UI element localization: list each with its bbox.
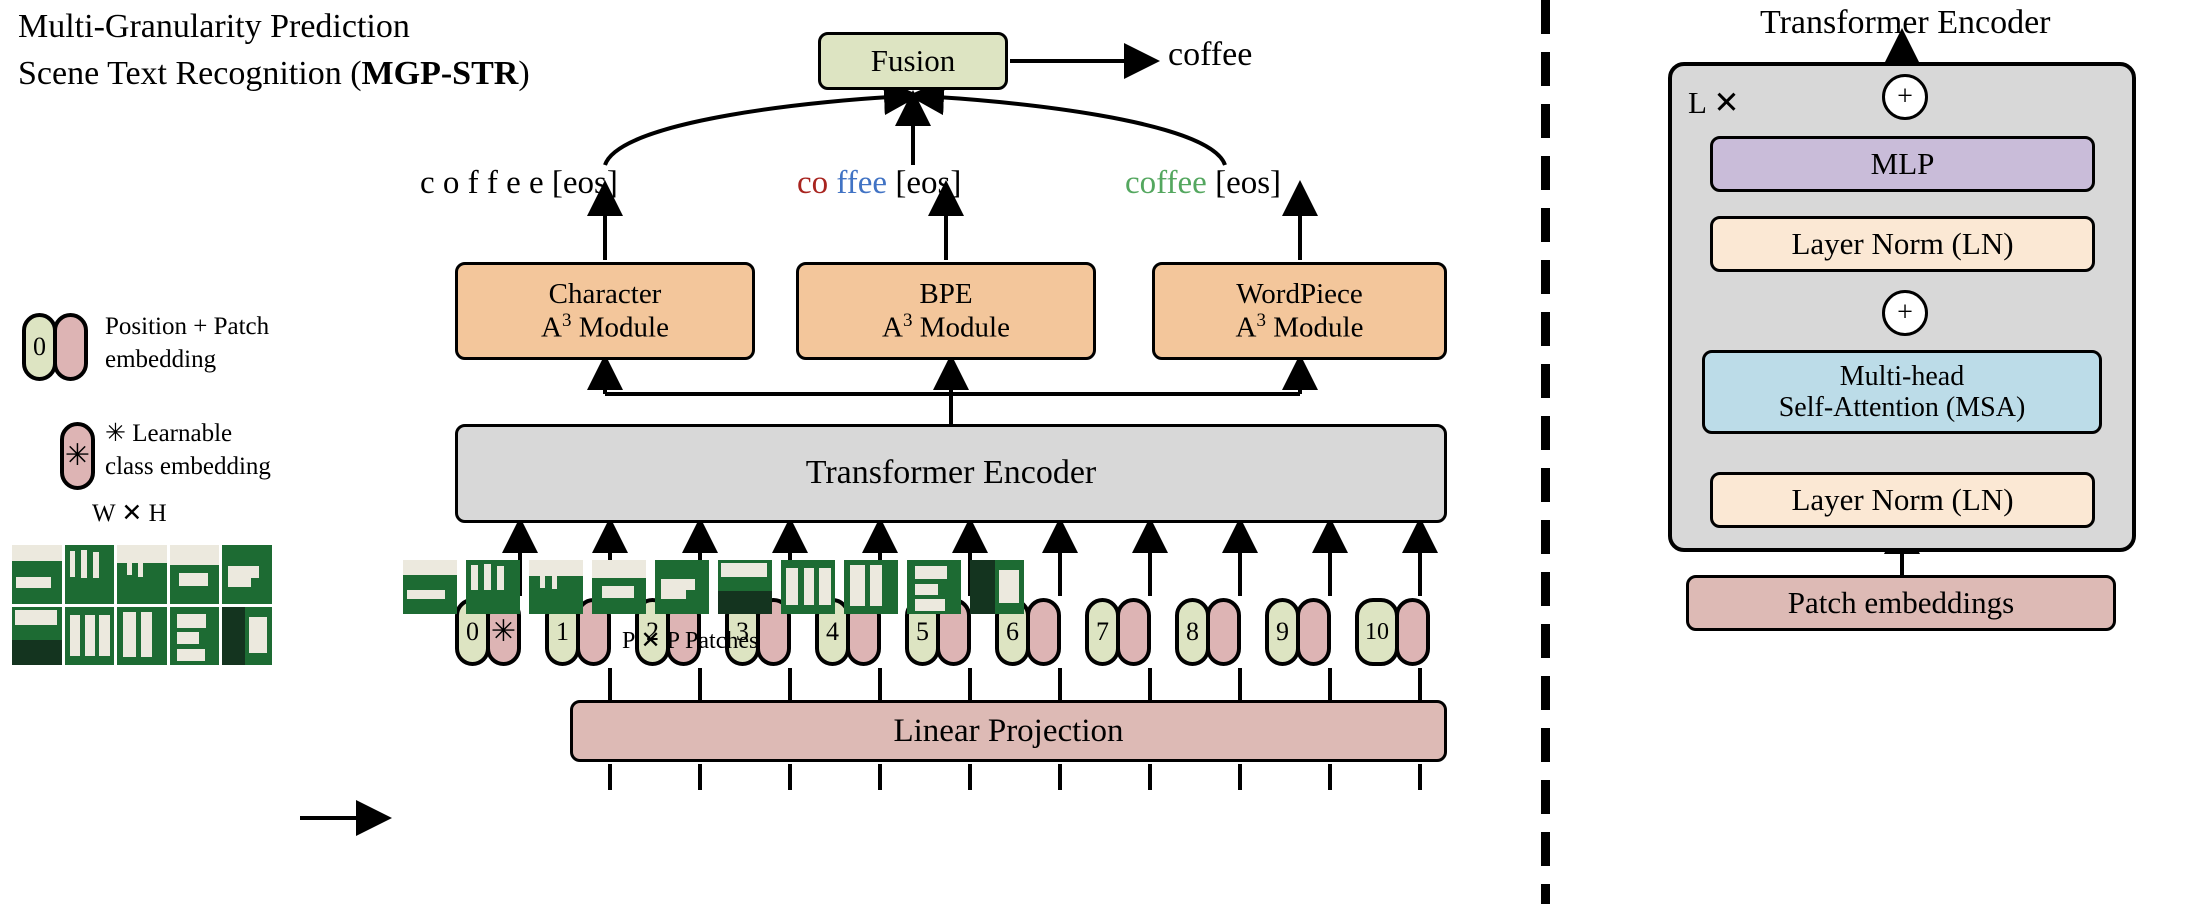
patch-shape [65, 581, 115, 603]
patch-shape [407, 590, 445, 600]
patch-sequence-row [403, 560, 1024, 614]
patch-shape [228, 578, 251, 587]
patch-shape [123, 612, 136, 656]
patch-shape [170, 545, 220, 565]
patch-embedding-pill [1026, 598, 1061, 666]
module-label: CharacterA3 Module [541, 278, 669, 345]
image-size-label: W ✕ H [92, 498, 167, 528]
prediction-token: c o f f e e [420, 165, 552, 201]
patch-shape [117, 582, 167, 603]
patch-shape [177, 649, 205, 662]
patch-shape [718, 591, 772, 614]
msa-label-line1: Multi-head [1779, 361, 2026, 392]
patch-shape [870, 565, 882, 606]
patch-shape [249, 617, 267, 653]
image-patch [844, 560, 898, 614]
patch-shape [228, 566, 259, 578]
prediction-token: [eos] [887, 165, 961, 201]
prediction-bpe: co ffee [eos] [797, 165, 961, 202]
source-image-grid [12, 545, 272, 665]
patch-shape [179, 573, 209, 586]
right-panel-title: Transformer Encoder [1760, 4, 2051, 42]
image-patch [65, 545, 115, 604]
module-label-line1: Character [541, 278, 669, 310]
module-label-superscript: 3 [903, 310, 913, 331]
image-patch [65, 607, 115, 666]
patch-shape [970, 560, 995, 614]
legend-position-patch-label: Position + Patch embedding [105, 311, 325, 376]
patch-shape [99, 615, 110, 656]
module-label: WordPieceA3 Module [1236, 278, 1364, 345]
legend-patch-pill [53, 313, 88, 381]
repeat-count-label: L ✕ [1688, 85, 1740, 121]
module-label-superscript: 3 [1256, 310, 1266, 331]
patch-shape [915, 566, 947, 579]
prediction-token: co [797, 165, 828, 201]
fusion-box[interactable]: Fusion [818, 32, 1008, 90]
patch-shape [81, 550, 87, 578]
panel-divider [1541, 0, 1550, 904]
position-embedding-pill: 10 [1355, 598, 1399, 666]
transformer-encoder-box[interactable]: Transformer Encoder [455, 424, 1447, 523]
title-line-2-suffix: ) [518, 55, 529, 92]
patch-shape [592, 560, 646, 578]
image-patch [529, 560, 583, 614]
module-label-line2: A3 Module [1236, 310, 1364, 344]
module-label-superscript: 3 [562, 310, 572, 331]
patch-shape [661, 579, 694, 590]
patches-label: P ✕ P Patches [622, 626, 758, 655]
patch-shape [471, 565, 477, 589]
image-patch [117, 545, 167, 604]
image-patch [222, 545, 272, 604]
image-patch [466, 560, 520, 614]
multi-head-self-attention-box[interactable]: Multi-headSelf-Attention (MSA) [1702, 350, 2102, 434]
token-pair: 10 [1355, 598, 1430, 666]
legend-class-embedding-icon: ✳ [60, 422, 95, 490]
legend-position-pill: 0 [22, 313, 57, 381]
residual-add-bottom-icon: + [1882, 290, 1928, 336]
image-patch [907, 560, 961, 614]
residual-add-top-icon: + [1882, 74, 1928, 120]
patch-shape [93, 552, 99, 578]
patch-shape [819, 568, 831, 606]
page-title: Multi-Granularity PredictionScene Text R… [18, 4, 530, 98]
image-patch [403, 560, 457, 614]
module-label-line2: A3 Module [541, 310, 669, 344]
patch-embedding-pill [1116, 598, 1151, 666]
module-wordpiece-a3[interactable]: WordPieceA3 Module [1152, 262, 1447, 360]
image-patch [718, 560, 772, 614]
msa-label: Multi-headSelf-Attention (MSA) [1779, 361, 2026, 424]
prediction-wordpiece: coffee [eos] [1125, 165, 1281, 202]
image-patch [12, 607, 62, 666]
layer-norm-top-box[interactable]: Layer Norm (LN) [1710, 216, 2095, 272]
patch-shape [484, 564, 490, 590]
prediction-token: [eos] [552, 165, 618, 201]
patch-shape [999, 570, 1018, 603]
image-patch [170, 607, 220, 666]
legend-class-embedding-label: ✳ Learnable class embedding [105, 418, 335, 483]
linear-projection-box[interactable]: Linear Projection [570, 700, 1447, 762]
patch-shape [70, 615, 81, 656]
patch-shape [70, 551, 76, 577]
title-acronym: MGP-STR [362, 55, 519, 92]
position-embedding-pill: 9 [1265, 598, 1300, 666]
patch-shape [12, 640, 62, 665]
patch-shape [661, 590, 686, 599]
image-patch [170, 545, 220, 604]
prediction-token: ffee [836, 165, 887, 201]
final-output-text: coffee [1168, 36, 1252, 74]
patch-shape [141, 612, 152, 656]
patch-embeddings-box[interactable]: Patch embeddings [1686, 575, 2116, 631]
patch-shape [12, 545, 62, 561]
patch-shape [850, 565, 864, 606]
token-pair: 7 [1085, 598, 1151, 666]
token-pair: 9 [1265, 598, 1331, 666]
image-patch [12, 545, 62, 604]
patch-shape [177, 614, 207, 628]
image-patch [117, 607, 167, 666]
module-character-a3[interactable]: CharacterA3 Module [455, 262, 755, 360]
patch-shape [117, 545, 167, 563]
position-embedding-pill: 7 [1085, 598, 1120, 666]
patch-shape [915, 584, 939, 595]
module-label-line2: A3 Module [882, 310, 1010, 344]
layer-norm-bottom-box[interactable]: Layer Norm (LN) [1710, 472, 2095, 528]
image-patch [781, 560, 835, 614]
patch-shape [602, 586, 634, 598]
patch-shape [529, 595, 583, 614]
token-pair: 8 [1175, 598, 1241, 666]
patch-embedding-pill [1206, 598, 1241, 666]
title-line-1: Multi-Granularity Prediction [18, 8, 410, 45]
patch-embedding-pill [1395, 598, 1430, 666]
module-bpe-a3[interactable]: BPEA3 Module [796, 262, 1096, 360]
patch-shape [915, 599, 945, 611]
patch-embedding-pill [1296, 598, 1331, 666]
patch-shape [786, 568, 798, 606]
patch-shape [804, 568, 815, 606]
prediction-token: coffee [1125, 165, 1207, 201]
module-label: BPEA3 Module [882, 278, 1010, 345]
patch-shape [85, 615, 95, 656]
module-label-line1: BPE [882, 278, 1010, 310]
patch-shape [15, 610, 57, 625]
module-label-line1: WordPiece [1236, 278, 1364, 310]
mlp-box[interactable]: MLP [1710, 136, 2095, 192]
patch-shape [403, 560, 457, 575]
prediction-character: c o f f e e [eos] [420, 165, 618, 202]
image-patch [655, 560, 709, 614]
prediction-token: [eos] [1207, 165, 1281, 201]
patch-shape [16, 577, 51, 588]
image-patch [592, 560, 646, 614]
patch-shape [497, 566, 503, 590]
image-patch [970, 560, 1024, 614]
image-patch [222, 607, 272, 666]
legend-position-patch-icon: 0 [22, 313, 88, 381]
position-embedding-pill: 8 [1175, 598, 1210, 666]
msa-label-line2: Self-Attention (MSA) [1779, 392, 2026, 423]
patch-shape [222, 607, 245, 666]
title-line-2-prefix: Scene Text Recognition ( [18, 55, 362, 92]
patch-shape [466, 593, 520, 614]
legend-class-pill: ✳ [60, 422, 95, 490]
patch-shape [721, 563, 766, 577]
patch-shape [177, 632, 199, 644]
patch-shape [529, 560, 583, 576]
